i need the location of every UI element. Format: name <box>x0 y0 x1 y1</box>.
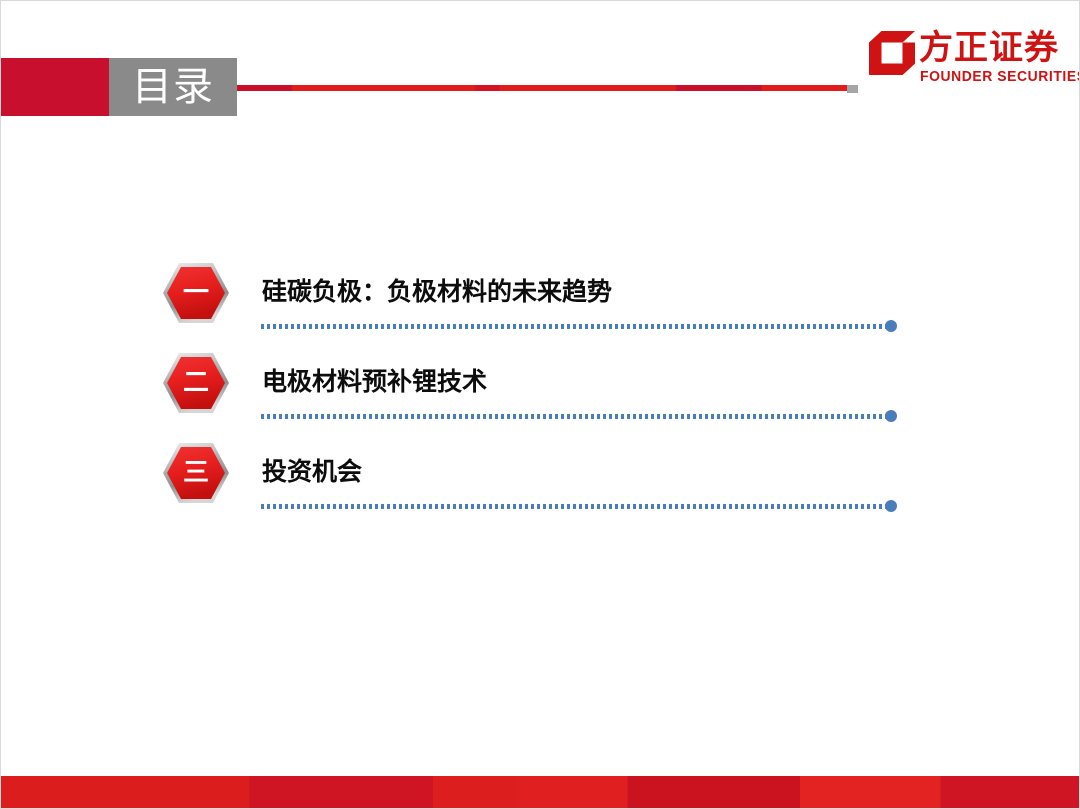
footer-bar <box>1 776 1080 809</box>
brand-logo: 方正证券 FOUNDER SECURITIES <box>869 29 1069 84</box>
toc-leader-dot-3 <box>885 500 897 512</box>
toc-label-2[interactable]: 电极材料预补锂技术 <box>262 362 487 402</box>
logo-name-en: FOUNDER SECURITIES <box>920 69 1080 85</box>
founder-securities-logo-mark-icon <box>869 31 915 75</box>
toc-leader-line-3 <box>261 504 889 509</box>
toc-label-3[interactable]: 投资机会 <box>262 452 362 492</box>
header-rule-end-cap <box>847 85 858 93</box>
toc-leader-dot-1 <box>885 320 897 332</box>
toc-leader-line-1 <box>261 324 889 329</box>
page-title: 目录 <box>132 67 214 107</box>
header-rule <box>237 85 847 91</box>
toc-number-1: 一 <box>162 262 230 324</box>
toc-leader-dot-2 <box>885 410 897 422</box>
toc-label-1[interactable]: 硅碳负极：负极材料的未来趋势 <box>262 272 612 312</box>
toc-item-3[interactable]: 三 投资机会 <box>1 442 1080 506</box>
logo-name-cn: 方正证券 <box>919 29 1059 67</box>
header-red-block <box>1 58 109 116</box>
toc-item-2[interactable]: 二 电极材料预补锂技术 <box>1 352 1080 416</box>
header-title-block: 目录 <box>109 58 237 116</box>
toc-item-1[interactable]: 一 硅碳负极：负极材料的未来趋势 <box>1 262 1080 326</box>
toc-leader-line-2 <box>261 414 889 419</box>
slide-canvas: 目录 方正证券 FOUNDER SECURITIES <box>0 0 1080 809</box>
toc-number-2: 二 <box>162 352 230 414</box>
toc-number-3: 三 <box>162 442 230 504</box>
